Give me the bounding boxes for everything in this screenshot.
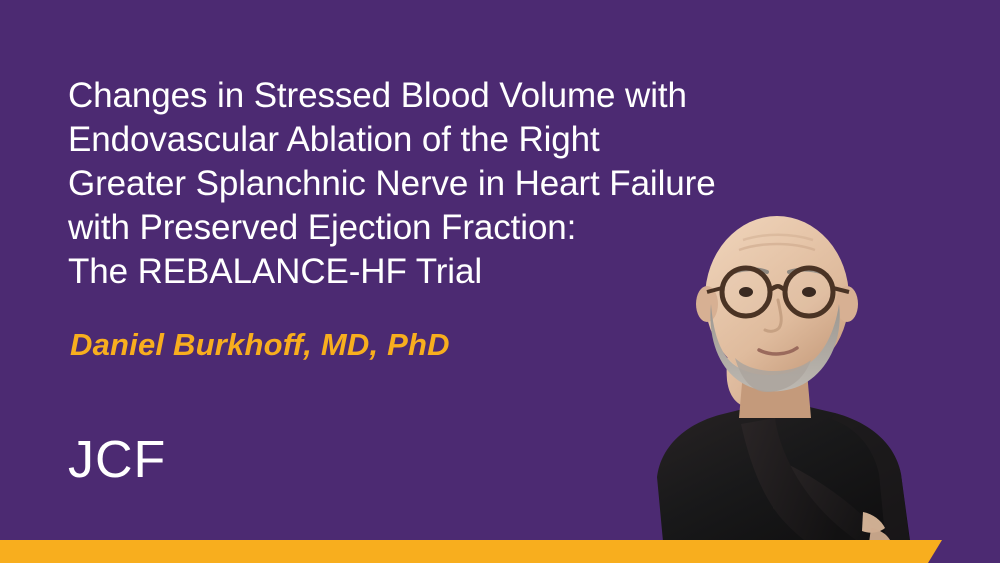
title-line-3: Greater Splanchnic Nerve in Heart Failur… <box>68 162 898 206</box>
footer-accent-bar <box>0 540 1000 563</box>
presenter-name: Daniel Burkhoff, MD, PhD <box>70 326 450 364</box>
title-line-4: with Preserved Ejection Fraction: <box>68 206 898 250</box>
jcf-logo: JCF <box>68 431 166 489</box>
presentation-title-slide: Changes in Stressed Blood Volume with En… <box>0 0 1000 563</box>
title-line-2: Endovascular Ablation of the Right <box>68 118 898 162</box>
title-line-1: Changes in Stressed Blood Volume with <box>68 74 898 118</box>
title-line-5: The REBALANCE-HF Trial <box>68 250 898 294</box>
slide-title: Changes in Stressed Blood Volume with En… <box>68 74 898 294</box>
footer-bar-shape <box>0 540 942 563</box>
